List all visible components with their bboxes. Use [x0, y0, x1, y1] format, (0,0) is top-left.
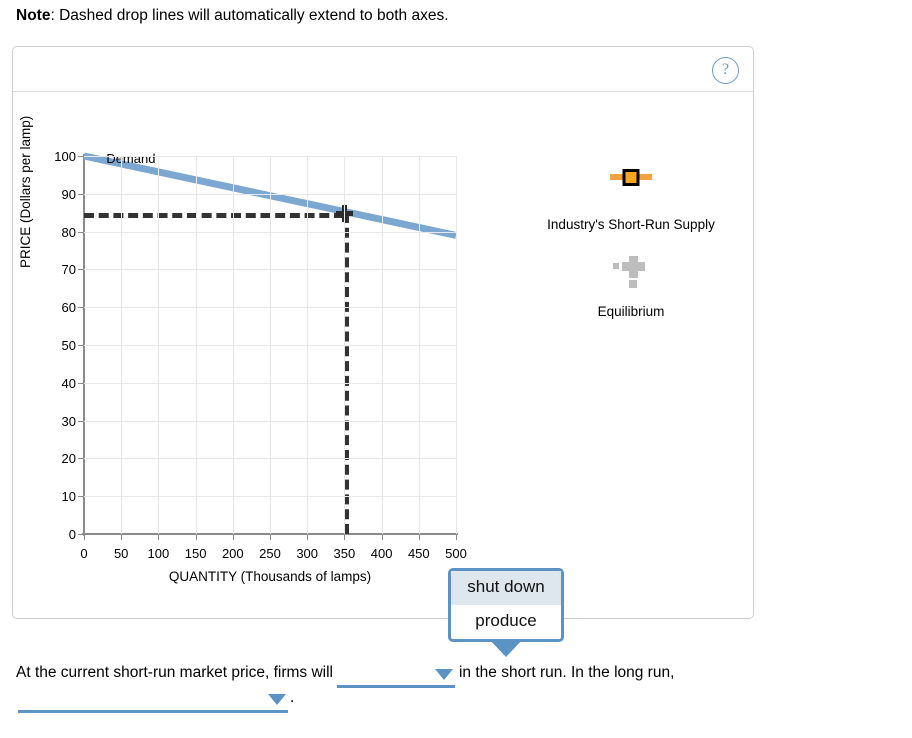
x-axis-tick	[307, 534, 308, 540]
note-prefix: Note	[16, 7, 50, 24]
x-axis-tick	[196, 534, 197, 540]
grid-line-vertical	[456, 156, 457, 534]
y-axis-tick-label: 40	[42, 377, 76, 390]
x-axis-tick-label: 500	[436, 547, 476, 560]
legend-label-supply: Industry's Short-Run Supply	[521, 217, 741, 232]
plot-area: Demand QUANTITY (Thousands of lamps) PRI…	[84, 156, 456, 534]
grid-line-horizontal	[84, 156, 456, 157]
grid-line-horizontal	[84, 345, 456, 346]
x-axis-tick	[382, 534, 383, 540]
x-axis-tick	[456, 534, 457, 540]
x-axis-tick	[121, 534, 122, 540]
legend-item-equilibrium: Equilibrium	[521, 254, 741, 319]
grid-line-horizontal	[84, 496, 456, 497]
y-axis-tick	[78, 383, 84, 384]
x-axis-tick	[419, 534, 420, 540]
grid-line-horizontal	[84, 383, 456, 384]
y-axis-tick-label: 70	[42, 263, 76, 276]
y-axis-tick-label: 30	[42, 415, 76, 428]
grid-line-horizontal	[84, 421, 456, 422]
y-axis-tick-label: 60	[42, 301, 76, 314]
y-axis-tick	[78, 496, 84, 497]
long-run-blank[interactable]	[18, 688, 288, 713]
legend-item-supply: Industry's Short-Run Supply	[521, 167, 741, 232]
y-axis-tick	[78, 421, 84, 422]
y-axis-tick	[78, 534, 84, 535]
chart-legend: Industry's Short-Run Supply Equilibrium	[521, 167, 741, 341]
grid-line-horizontal	[84, 232, 456, 233]
y-axis-tick-label: 20	[42, 452, 76, 465]
x-axis-tick-label: 50	[101, 547, 141, 560]
sentence-part-2: in the short run. In the long run,	[459, 664, 674, 681]
horizontal-drop-line	[84, 213, 344, 218]
x-axis-tick-label: 400	[362, 547, 402, 560]
y-axis-title: PRICE (Dollars per lamp)	[18, 116, 33, 268]
chart-area: Demand QUANTITY (Thousands of lamps) PRI…	[13, 47, 755, 620]
chart-panel: ? Demand QUANTITY (Thousands of lamps) P…	[12, 46, 754, 619]
y-axis-tick-label: 80	[42, 226, 76, 239]
short-run-blank[interactable]	[337, 663, 455, 688]
y-axis-tick-label: 50	[42, 339, 76, 352]
demand-curve-label: Demand	[106, 151, 155, 166]
dropdown-option-produce[interactable]: produce	[451, 605, 561, 639]
x-axis-tick	[270, 534, 271, 540]
x-axis-tick	[84, 534, 85, 540]
note-text: Note: Dashed drop lines will automatical…	[16, 6, 449, 26]
grid-line-horizontal	[84, 194, 456, 195]
y-axis-tick-label: 0	[42, 528, 76, 541]
x-axis-tick-label: 200	[213, 547, 253, 560]
x-axis-tick-label: 300	[287, 547, 327, 560]
chevron-down-icon	[268, 694, 286, 705]
dropdown-tail-icon	[489, 639, 523, 657]
x-axis-tick	[233, 534, 234, 540]
supply-marker-icon	[521, 167, 741, 187]
y-axis-tick	[78, 232, 84, 233]
x-axis-tick-label: 250	[250, 547, 290, 560]
legend-label-equilibrium: Equilibrium	[521, 304, 741, 319]
y-axis-tick	[78, 345, 84, 346]
short-run-action-dropdown[interactable]: shut down produce	[448, 568, 564, 642]
sentence-part-1: At the current short-run market price, f…	[16, 664, 333, 681]
x-axis-tick-label: 350	[324, 547, 364, 560]
x-axis-title: QUANTITY (Thousands of lamps)	[84, 569, 456, 584]
grid-line-horizontal	[84, 458, 456, 459]
equilibrium-cross-icon	[521, 254, 741, 282]
y-axis-tick-label: 90	[42, 188, 76, 201]
question-sentence-line-2: .	[16, 683, 294, 713]
sentence-part-3: .	[290, 689, 294, 706]
y-axis-tick	[78, 307, 84, 308]
y-axis-tick-label: 100	[42, 150, 76, 163]
x-axis-tick-label: 150	[176, 547, 216, 560]
x-axis-tick-label: 100	[138, 547, 178, 560]
y-axis-tick	[78, 458, 84, 459]
y-axis-tick	[78, 269, 84, 270]
dropdown-option-shut-down[interactable]: shut down	[451, 571, 561, 605]
x-axis-tick	[158, 534, 159, 540]
grid-line-horizontal	[84, 269, 456, 270]
x-axis-tick	[344, 534, 345, 540]
y-axis-tick	[78, 156, 84, 157]
note-body: : Dashed drop lines will automatically e…	[50, 7, 448, 24]
y-axis-tick-label: 10	[42, 490, 76, 503]
y-axis-tick	[78, 194, 84, 195]
grid-line-horizontal	[84, 307, 456, 308]
x-axis-tick-label: 450	[399, 547, 439, 560]
chevron-down-icon	[435, 669, 453, 680]
x-axis-tick-label: 0	[64, 547, 104, 560]
